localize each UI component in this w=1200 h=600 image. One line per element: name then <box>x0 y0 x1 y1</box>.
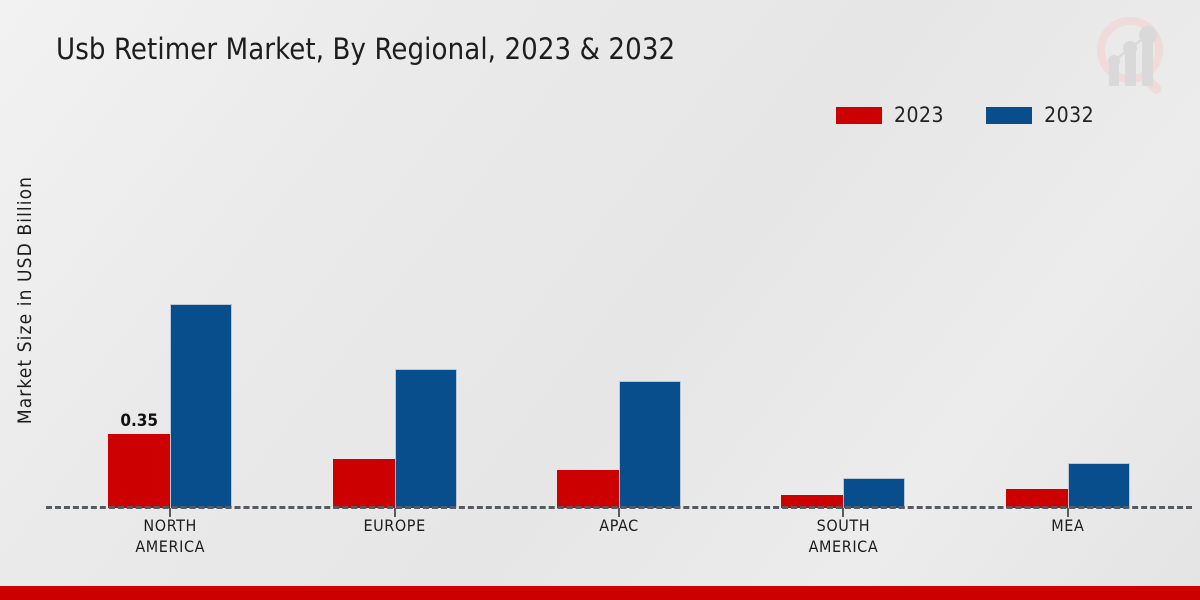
bar-europe-2032[interactable] <box>395 369 457 508</box>
x-axis-label-apac-line1: APAC <box>507 515 731 536</box>
legend-item-2023[interactable]: 2023 <box>836 103 944 127</box>
bottom-accent-band <box>0 586 1200 600</box>
legend-label-2023: 2023 <box>894 103 944 127</box>
bar-north-america-2023[interactable]: 0.35 <box>108 434 170 508</box>
bar-apac-2032[interactable] <box>619 381 681 508</box>
legend-swatch-2032 <box>986 107 1032 124</box>
x-axis-label-south-america-line2: AMERICA <box>731 536 955 557</box>
bar-europe-2023[interactable] <box>333 459 395 508</box>
plot-area: 0.35 <box>46 150 1192 509</box>
bar-groups: 0.35 <box>58 150 1180 508</box>
x-axis-baseline <box>46 506 1192 509</box>
chart-title: Usb Retimer Market, By Regional, 2023 & … <box>56 32 675 66</box>
x-axis-label-south-america: SOUTH AMERICA <box>731 515 955 557</box>
bar-mea-2032[interactable] <box>1068 463 1130 508</box>
chart-legend: 2023 2032 <box>836 103 1094 127</box>
legend-item-2032[interactable]: 2032 <box>986 103 1094 127</box>
x-axis-label-mea: MEA <box>956 515 1180 557</box>
bar-south-america-2032[interactable] <box>843 478 905 508</box>
x-axis-label-mea-line1: MEA <box>956 515 1180 536</box>
x-axis-category-labels: NORTH AMERICA EUROPE APAC SOUTH AMERICA … <box>58 515 1180 557</box>
market-research-magnifier-logo-icon <box>1084 8 1180 104</box>
x-axis-label-europe: EUROPE <box>282 515 506 557</box>
bar-group-apac <box>507 150 731 508</box>
y-axis-title: Market Size in USD Billion <box>6 0 44 600</box>
legend-swatch-2023 <box>836 107 882 124</box>
x-axis-label-south-america-line1: SOUTH <box>731 515 955 536</box>
x-axis-label-apac: APAC <box>507 515 731 557</box>
x-axis-label-europe-line1: EUROPE <box>282 515 506 536</box>
x-axis-label-north-america-line1: NORTH <box>58 515 282 536</box>
bar-apac-2023[interactable] <box>557 470 619 508</box>
x-axis-label-north-america: NORTH AMERICA <box>58 515 282 557</box>
bar-group-north-america: 0.35 <box>58 150 282 508</box>
bar-group-europe <box>282 150 506 508</box>
legend-label-2032: 2032 <box>1044 103 1094 127</box>
chart-canvas: Usb Retimer Market, By Regional, 2023 & … <box>0 0 1200 600</box>
bar-group-south-america <box>731 150 955 508</box>
x-axis-label-north-america-line2: AMERICA <box>58 536 282 557</box>
bar-group-mea <box>956 150 1180 508</box>
bar-value-north-america-2023: 0.35 <box>120 411 158 431</box>
bar-north-america-2032[interactable] <box>170 304 232 508</box>
